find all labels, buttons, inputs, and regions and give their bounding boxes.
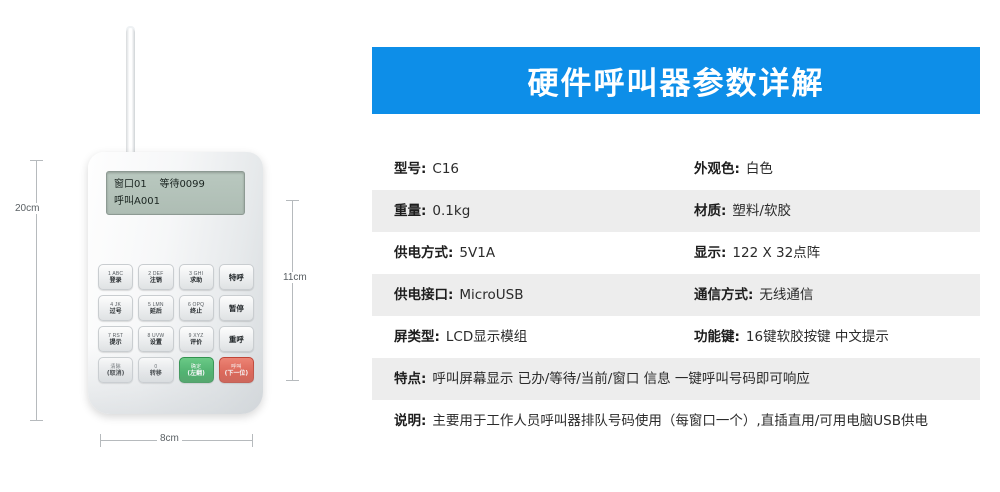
spec-row: 特点:呼叫屏幕显示 已办/等待/当前/窗口 信息 一键呼叫号码即可响应 xyxy=(372,358,980,400)
title-banner: 硬件呼叫器参数详解 xyxy=(372,47,980,114)
spec-label: 外观色: xyxy=(694,157,740,177)
spec-label: 供电方式: xyxy=(394,241,453,261)
lcd-screen: 窗口01 等待0099 呼叫A001 xyxy=(106,171,245,215)
spec-cell: 特点:呼叫屏幕显示 已办/等待/当前/窗口 信息 一键呼叫号码即可响应 xyxy=(394,367,980,389)
spec-row: 供电方式:5V1A显示:122 X 32点阵 xyxy=(372,232,980,274)
spec-cell: 外观色:白色 xyxy=(694,157,980,179)
depth-dim-line xyxy=(292,200,293,380)
height-dim-cap-top xyxy=(30,160,43,161)
height-dim-cap-bottom xyxy=(30,420,43,421)
keypad-key-0[interactable]: 1 ABC登录 xyxy=(98,264,133,290)
key-label: 延后 xyxy=(150,308,162,315)
spec-cell: 材质:塑料/软胶 xyxy=(694,199,980,221)
keypad-key-7[interactable]: 暂停 xyxy=(219,295,254,321)
keypad-key-5[interactable]: 5 LMN延后 xyxy=(138,295,173,321)
spec-row: 型号:C16外观色:白色 xyxy=(372,148,980,190)
spec-cell: 说明:主要用于工作人员呼叫器排队号码使用（每窗口一个）,直插直用/可用电脑USB… xyxy=(394,409,980,431)
height-dim-label: 20cm xyxy=(12,203,42,214)
lcd-line-1: 窗口01 等待0099 xyxy=(114,176,237,193)
spec-cell: 显示:122 X 32点阵 xyxy=(694,241,980,263)
spec-label: 材质: xyxy=(694,199,726,219)
product-image-panel: 窗口01 等待0099 呼叫A001 1 ABC登录2 DEF注销3 GHI求助… xyxy=(0,0,360,492)
spec-cell: 功能键:16键软胶按键 中文提示 xyxy=(694,325,980,347)
height-dim-line xyxy=(36,160,37,420)
spec-label: 功能键: xyxy=(694,325,740,345)
key-label: 注销 xyxy=(150,277,162,284)
spec-value: C16 xyxy=(432,159,459,179)
spec-value: 白色 xyxy=(746,159,773,179)
device-shading xyxy=(88,344,263,414)
spec-row: 说明:主要用于工作人员呼叫器排队号码使用（每窗口一个）,直插直用/可用电脑USB… xyxy=(372,400,980,442)
spec-cell: 供电接口:MicroUSB xyxy=(394,283,694,305)
spec-label: 显示: xyxy=(694,241,726,261)
lcd-line-2: 呼叫A001 xyxy=(114,193,237,210)
spec-cell: 供电方式:5V1A xyxy=(394,241,694,263)
key-label: 过号 xyxy=(110,308,122,315)
caller-device-body: 窗口01 等待0099 呼叫A001 1 ABC登录2 DEF注销3 GHI求助… xyxy=(88,152,263,414)
depth-dim-cap-top xyxy=(286,200,299,201)
key-label: 特呼 xyxy=(229,273,244,282)
spec-value: 0.1kg xyxy=(432,201,470,221)
key-label: 求助 xyxy=(190,277,202,284)
spec-label: 屏类型: xyxy=(394,325,440,345)
spec-value: 122 X 32点阵 xyxy=(732,243,820,263)
key-label: 终止 xyxy=(190,308,202,315)
page-title: 硬件呼叫器参数详解 xyxy=(528,58,825,103)
keypad-key-2[interactable]: 3 GHI求助 xyxy=(179,264,214,290)
key-label: 登录 xyxy=(110,277,122,284)
depth-dim-cap-bottom xyxy=(286,380,299,381)
spec-value: 无线通信 xyxy=(759,285,813,305)
width-dim-label: 8cm xyxy=(157,433,182,444)
keypad-key-1[interactable]: 2 DEF注销 xyxy=(138,264,173,290)
spec-table: 型号:C16外观色:白色重量:0.1kg材质:塑料/软胶供电方式:5V1A显示:… xyxy=(372,148,980,442)
keypad-key-6[interactable]: 6 OPQ终止 xyxy=(179,295,214,321)
spec-value: 呼叫屏幕显示 已办/等待/当前/窗口 信息 一键呼叫号码即可响应 xyxy=(432,369,810,389)
spec-cell: 型号:C16 xyxy=(394,157,694,179)
spec-value: 16键软胶按键 中文提示 xyxy=(746,327,889,347)
width-dim-cap-right xyxy=(252,434,253,447)
keypad-key-4[interactable]: 4 JK过号 xyxy=(98,295,133,321)
spec-value: 塑料/软胶 xyxy=(732,201,791,221)
spec-label: 重量: xyxy=(394,199,426,219)
key-label: 重呼 xyxy=(229,335,244,344)
spec-row: 屏类型:LCD显示模组功能键:16键软胶按键 中文提示 xyxy=(372,316,980,358)
spec-label: 说明: xyxy=(394,409,426,429)
spec-value: MicroUSB xyxy=(459,285,523,305)
key-label: 暂停 xyxy=(229,304,244,313)
depth-dim-label: 11cm xyxy=(280,272,310,283)
spec-label: 通信方式: xyxy=(694,283,753,303)
spec-row: 供电接口:MicroUSB通信方式:无线通信 xyxy=(372,274,980,316)
spec-value: LCD显示模组 xyxy=(446,327,527,347)
antenna xyxy=(126,28,135,168)
spec-cell: 通信方式:无线通信 xyxy=(694,283,980,305)
spec-row: 重量:0.1kg材质:塑料/软胶 xyxy=(372,190,980,232)
spec-cell: 重量:0.1kg xyxy=(394,199,694,221)
spec-value: 5V1A xyxy=(459,243,495,263)
keypad-key-3[interactable]: 特呼 xyxy=(219,264,254,290)
spec-label: 型号: xyxy=(394,157,426,177)
width-dim-cap-left xyxy=(100,434,101,447)
spec-label: 供电接口: xyxy=(394,283,453,303)
spec-value: 主要用于工作人员呼叫器排队号码使用（每窗口一个）,直插直用/可用电脑USB供电 xyxy=(432,411,928,431)
spec-sheet-panel: 硬件呼叫器参数详解 型号:C16外观色:白色重量:0.1kg材质:塑料/软胶供电… xyxy=(372,0,1000,492)
spec-label: 特点: xyxy=(394,367,426,387)
spec-cell: 屏类型:LCD显示模组 xyxy=(394,325,694,347)
